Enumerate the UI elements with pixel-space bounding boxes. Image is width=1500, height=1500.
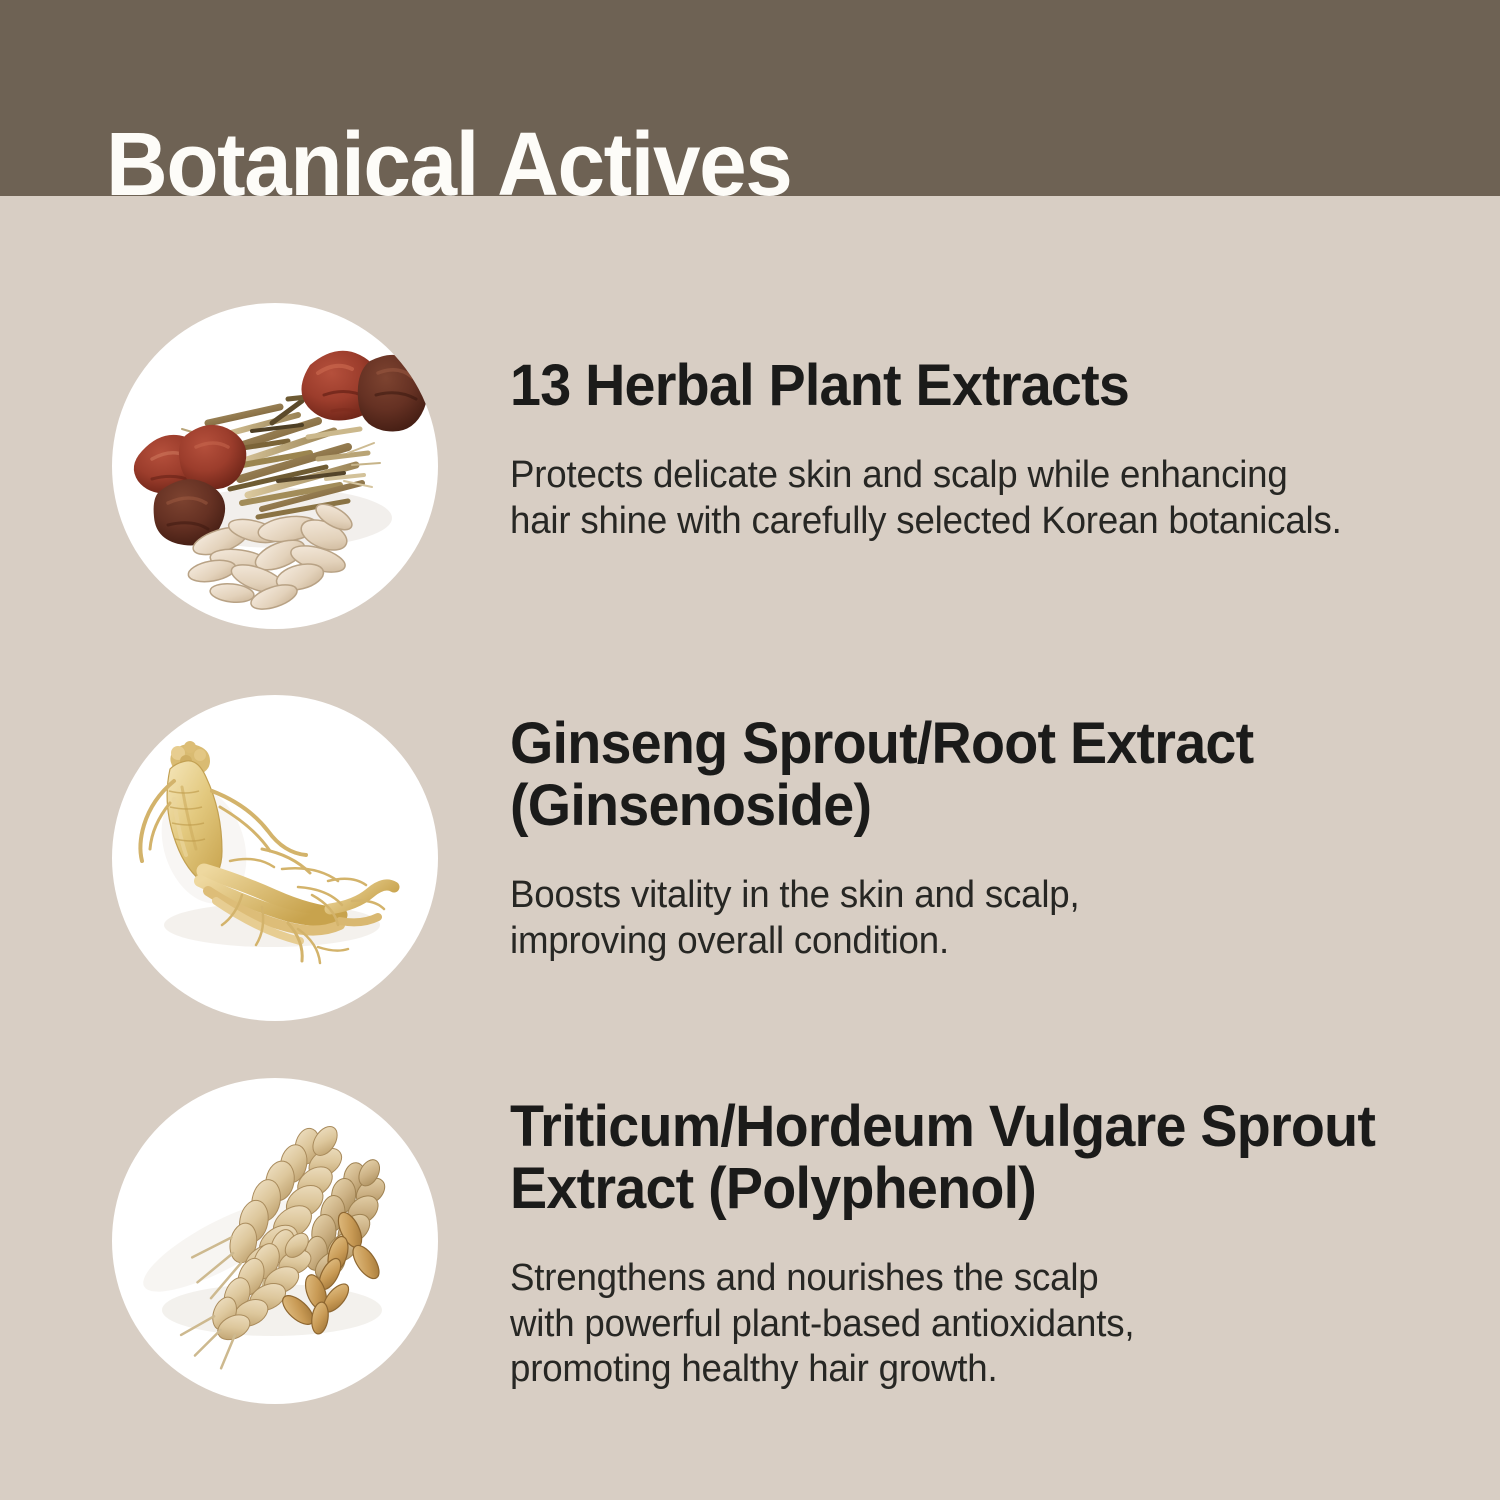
ginseng-root-icon	[112, 695, 438, 1021]
feature-description-line: Boosts vitality in the skin and scalp,	[510, 873, 1407, 919]
feature-description: Strengthens and nourishes the scalp with…	[510, 1256, 1407, 1393]
feature-description-line: Strengthens and nourishes the scalp	[510, 1256, 1407, 1302]
feature-heading-line: Ginseng Sprout/Root Extract	[510, 711, 1253, 776]
feature-heading: Ginseng Sprout/Root Extract (Ginsenoside…	[510, 713, 1403, 837]
feature-description-line: promoting healthy hair growth.	[510, 1347, 1407, 1393]
feature-copy: Ginseng Sprout/Root Extract (Ginsenoside…	[510, 695, 1440, 964]
infographic-page: Botanical Actives	[0, 0, 1500, 1500]
feature-heading-line: Triticum/Hordeum Vulgare	[510, 1094, 1186, 1159]
wheat-barley-sprout-icon	[112, 1078, 438, 1404]
page-title: Botanical Actives	[106, 120, 791, 196]
page-header: Botanical Actives	[0, 0, 1500, 196]
feature-copy: 13 Herbal Plant Extracts Protects delica…	[510, 303, 1440, 544]
feature-description-line: improving overall condition.	[510, 919, 1407, 965]
dried-herbs-jujube-icon	[112, 303, 438, 629]
feature-description-line: Protects delicate skin and scalp while e…	[510, 453, 1407, 499]
feature-description: Protects delicate skin and scalp while e…	[510, 453, 1407, 544]
feature-heading-line: (Ginsenoside)	[510, 773, 871, 838]
feature-description: Boosts vitality in the skin and scalp, i…	[510, 873, 1407, 964]
feature-heading: 13 Herbal Plant Extracts	[510, 355, 1403, 417]
feature-description-line: hair shine with carefully selected Korea…	[510, 499, 1407, 545]
feature-heading: Triticum/Hordeum Vulgare Sprout Extract …	[510, 1096, 1403, 1220]
feature-copy: Triticum/Hordeum Vulgare Sprout Extract …	[510, 1078, 1440, 1393]
feature-description-line: with powerful plant-based antioxidants,	[510, 1302, 1407, 1348]
